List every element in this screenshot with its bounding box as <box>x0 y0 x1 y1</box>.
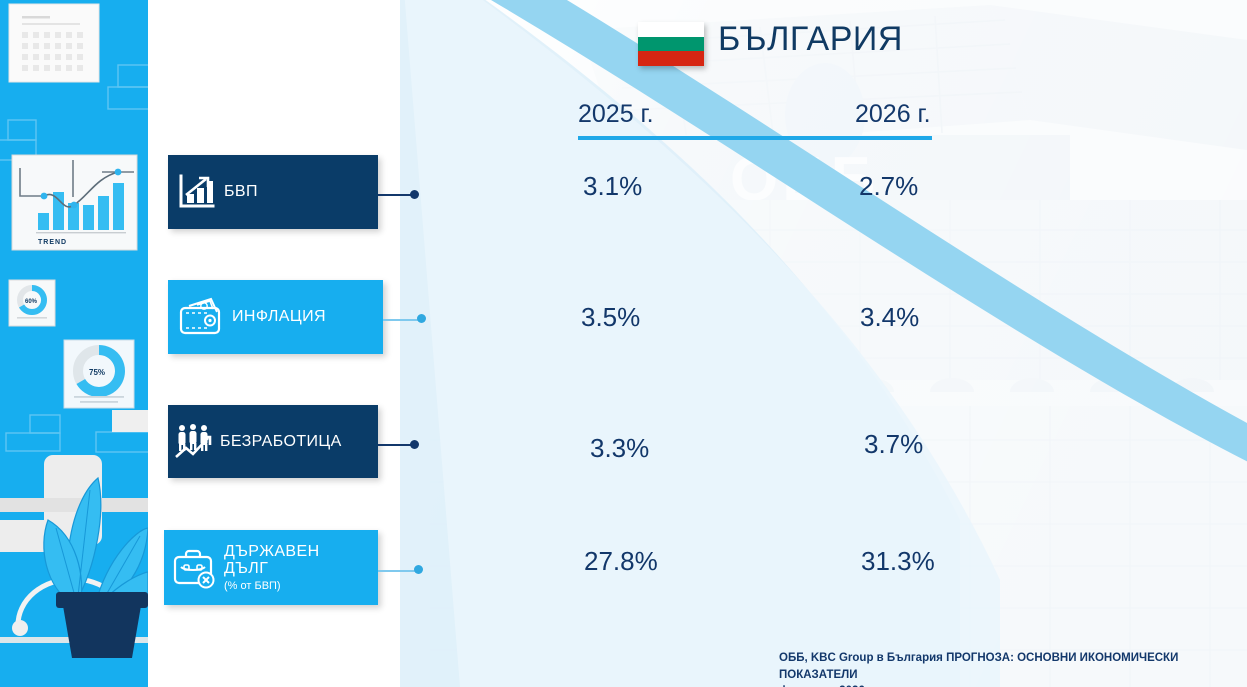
connector-dot-unemployment <box>410 440 419 449</box>
sidebar-donut-large-card: 75% <box>64 340 134 408</box>
indicator-label-wrap: БВП <box>224 183 258 201</box>
svg-text:TREND: TREND <box>38 239 67 246</box>
connector-line-inflation <box>383 319 419 321</box>
indicator-card-government-debt[interactable]: ДЪРЖАВЕН ДЪЛГ (% от БВП) <box>164 530 378 605</box>
flag-band-green <box>638 37 704 52</box>
indicator-label-inflation: ИНФЛАЦИЯ <box>232 308 326 326</box>
value-inflation-2025: 3.5% <box>581 302 640 333</box>
connector-line-government-debt <box>378 570 416 572</box>
flag-band-red <box>638 51 704 66</box>
people-trend-icon <box>168 405 220 478</box>
footer-line-1: ОББ, KBC Group в България ПРОГНОЗА: ОСНО… <box>779 650 1241 683</box>
value-government-debt-2026: 31.3% <box>861 546 935 577</box>
value-government-debt-2025: 27.8% <box>584 546 658 577</box>
indicator-sublabel-government-debt: (% от БВП) <box>224 580 320 592</box>
indicator-label-wrap: ИНФЛАЦИЯ <box>232 308 326 326</box>
connector-dot-gdp <box>410 190 419 199</box>
column-header-2026: 2026 г. <box>855 100 931 129</box>
connector-line-gdp <box>378 194 412 196</box>
bar-chart-growth-icon <box>168 155 224 229</box>
indicator-card-inflation[interactable]: ИНФЛАЦИЯ <box>168 280 383 354</box>
column-header-2025: 2025 г. <box>578 100 654 129</box>
svg-text:75%: 75% <box>89 368 105 377</box>
sidebar-illustration: TREND 60% 75% <box>0 0 148 687</box>
indicator-card-gdp[interactable]: БВП <box>168 155 378 229</box>
value-unemployment-2026: 3.7% <box>864 429 923 460</box>
footer-line-2: февруари 2026 г. <box>779 683 1241 687</box>
indicator-label-government-debt-line1: ДЪРЖАВЕН <box>224 543 320 561</box>
page-title: БЪЛГАРИЯ <box>718 20 903 59</box>
wallet-icon <box>168 280 232 354</box>
bulgaria-flag <box>638 22 704 66</box>
indicator-label-wrap: ДЪРЖАВЕН ДЪЛГ (% от БВП) <box>224 543 320 592</box>
footer-caption: ОББ, KBC Group в България ПРОГНОЗА: ОСНО… <box>779 650 1241 687</box>
indicator-label-unemployment: БЕЗРАБОТИЦА <box>220 433 342 451</box>
connector-dot-government-debt <box>414 565 423 574</box>
flag-band-white <box>638 22 704 37</box>
header-divider-rule <box>578 136 932 140</box>
indicator-label-gdp: БВП <box>224 183 258 201</box>
sidebar-calendar-card <box>9 4 99 82</box>
slide-canvas: ОББ <box>0 0 1247 687</box>
connector-line-unemployment <box>378 444 412 446</box>
value-gdp-2026: 2.7% <box>859 171 918 202</box>
svg-text:60%: 60% <box>25 299 38 305</box>
sidebar-donut-small-card: 60% <box>9 280 55 326</box>
value-inflation-2026: 3.4% <box>860 302 919 333</box>
indicator-label-wrap: БЕЗРАБОТИЦА <box>220 433 342 451</box>
sidebar-trend-card: TREND <box>12 155 137 250</box>
indicator-card-unemployment[interactable]: БЕЗРАБОТИЦА <box>168 405 378 478</box>
briefcase-deficit-icon <box>164 530 224 605</box>
value-unemployment-2025: 3.3% <box>590 433 649 464</box>
indicator-label-government-debt-line2: ДЪЛГ <box>224 560 320 578</box>
connector-dot-inflation <box>417 314 426 323</box>
value-gdp-2025: 3.1% <box>583 171 642 202</box>
decorative-swoosh <box>400 0 1247 687</box>
